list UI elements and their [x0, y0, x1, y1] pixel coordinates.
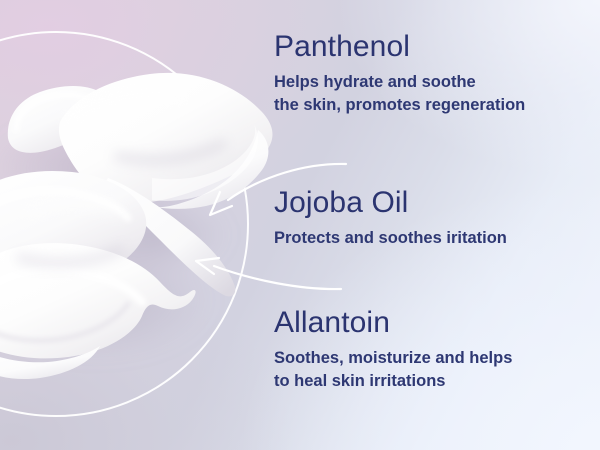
ingredient-description: Soothes, moisturize and helps to heal sk…	[274, 347, 512, 394]
ingredient-description: Protects and soothes iritation	[274, 227, 507, 250]
ingredient-title: Allantoin	[274, 306, 512, 340]
ingredient-item-allantoin: Allantoin Soothes, moisturize and helps …	[274, 306, 512, 393]
infographic-canvas: Panthenol Helps hydrate and soothe the s…	[0, 0, 600, 450]
ingredient-description: Helps hydrate and soothe the skin, promo…	[274, 71, 525, 118]
ingredient-title: Panthenol	[274, 30, 525, 64]
ingredient-list: Panthenol Helps hydrate and soothe the s…	[274, 0, 594, 450]
ingredient-item-panthenol: Panthenol Helps hydrate and soothe the s…	[274, 30, 525, 117]
ingredient-title: Jojoba Oil	[274, 186, 507, 220]
ingredient-item-jojoba-oil: Jojoba Oil Protects and soothes iritatio…	[274, 186, 507, 250]
